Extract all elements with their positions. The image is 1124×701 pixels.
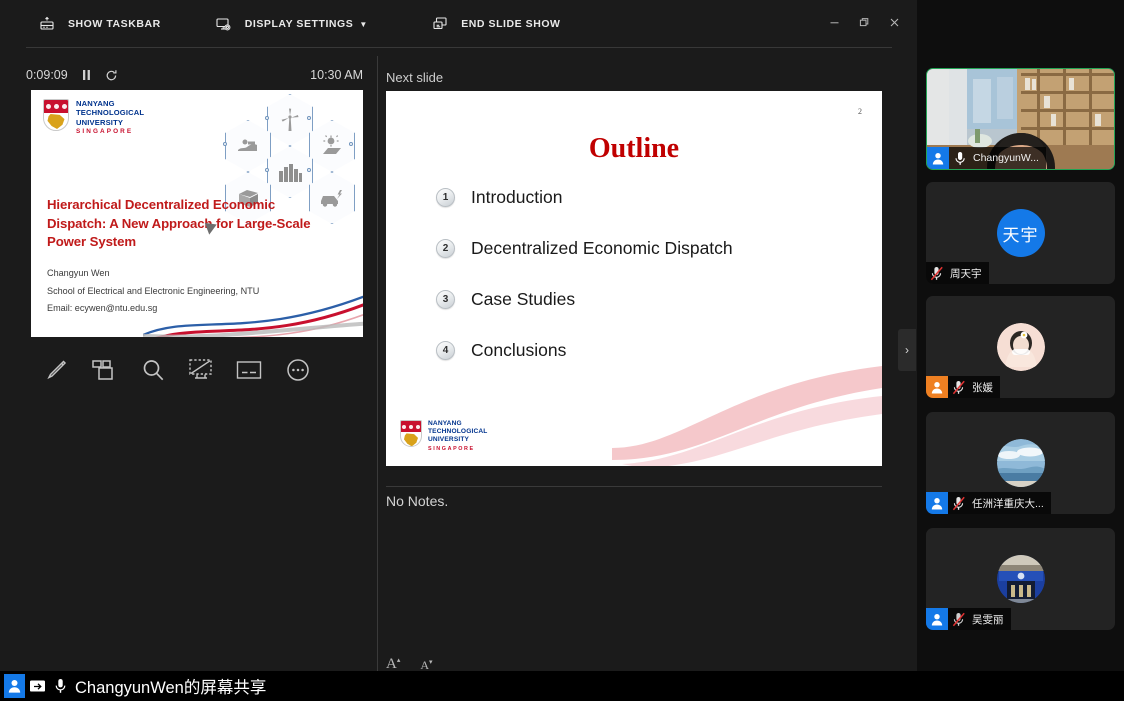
slide-page-number: 2 [858, 107, 862, 116]
current-slide-thumbnail[interactable]: NANYANG TECHNOLOGICAL UNIVERSITY SINGAPO… [31, 90, 363, 337]
display-settings-label: DISPLAY SETTINGS [245, 18, 354, 30]
powerpoint-presenter-window: SHOW TASKBAR DISPLAY SETTINGS ▼ [0, 0, 917, 695]
hex-factory-icon [267, 146, 313, 198]
ntu-line-1: NANYANG [428, 420, 487, 428]
slide-layout-icon[interactable] [80, 350, 128, 390]
outline-number: 2 [436, 239, 455, 258]
ntu-line-4: SINGAPORE [76, 128, 144, 135]
microphone-muted-icon [926, 262, 948, 284]
chevron-down-icon: ▼ [359, 20, 367, 29]
ntu-logo: NANYANG TECHNOLOGICAL UNIVERSITY SINGAPO… [43, 99, 144, 135]
microphone-icon [949, 147, 971, 169]
person-icon [926, 492, 948, 514]
avatar [997, 555, 1045, 603]
ntu-line-3: UNIVERSITY [428, 436, 487, 444]
close-button[interactable] [879, 9, 909, 35]
person-icon [926, 376, 948, 398]
participant-badge: 吴雯丽 [926, 608, 1011, 630]
display-settings-icon [215, 15, 233, 33]
participant-name: 张媛 [970, 380, 1000, 395]
timer-row: 0:09:09 10:30 AM [26, 68, 363, 82]
avatar [997, 323, 1045, 371]
person-icon [4, 674, 25, 698]
participant-badge: ChangyunW... [927, 147, 1046, 169]
participant-tile[interactable]: 任洲洋重庆大... [926, 412, 1115, 514]
screen-share-icon [26, 674, 48, 698]
show-taskbar-icon [38, 15, 56, 33]
participant-name: ChangyunW... [971, 152, 1046, 164]
participant-badge: 任洲洋重庆大... [926, 492, 1051, 514]
pause-timer-button[interactable] [82, 69, 91, 81]
microphone-icon [49, 674, 71, 698]
magnifier-icon[interactable] [129, 350, 177, 390]
list-item: 2 Decentralized Economic Dispatch [436, 238, 856, 259]
slide-title: Hierarchical Decentralized Economic Disp… [47, 196, 337, 252]
end-slide-show-icon [431, 15, 449, 33]
outline-text: Introduction [471, 187, 562, 208]
ntu-line-4: SINGAPORE [428, 446, 487, 452]
slide-swoosh-decoration [143, 279, 363, 337]
hex-hydro-icon [225, 120, 271, 172]
minimize-button[interactable] [819, 9, 849, 35]
next-slide-label: Next slide [386, 70, 443, 85]
black-screen-icon[interactable] [177, 350, 225, 390]
avatar: 天宇 [997, 209, 1045, 257]
ntu-line-1: NANYANG [76, 99, 144, 108]
screen-share-presenter-view: SHOW TASKBAR DISPLAY SETTINGS ▼ [0, 0, 1124, 701]
microphone-muted-icon [948, 492, 970, 514]
next-slide-pane: Next slide 2 Outline 1 Introduction 2 De… [386, 48, 886, 695]
next-slide-preview[interactable]: 2 Outline 1 Introduction 2 Decentralized… [386, 91, 882, 466]
outline-number: 1 [436, 188, 455, 207]
outline-text: Case Studies [471, 289, 575, 310]
end-slide-show-label: END SLIDE SHOW [461, 18, 560, 30]
restore-button[interactable] [849, 9, 879, 35]
participant-tile[interactable]: ChangyunW... [926, 68, 1115, 170]
microphone-muted-icon [948, 376, 970, 398]
avatar [997, 439, 1045, 487]
pane-divider [377, 56, 378, 686]
captions-icon[interactable] [225, 350, 273, 390]
speaker-notes[interactable]: No Notes. [386, 493, 448, 509]
display-settings-button[interactable]: DISPLAY SETTINGS ▼ [203, 0, 380, 48]
ntu-shield-icon [43, 99, 69, 131]
participant-name: 吴雯丽 [970, 612, 1011, 627]
presenter-toolbar: SHOW TASKBAR DISPLAY SETTINGS ▼ [0, 0, 917, 48]
show-taskbar-button[interactable]: SHOW TASKBAR [26, 0, 173, 48]
participant-tile[interactable]: 张媛 [926, 296, 1115, 398]
avatar-initials: 天宇 [1003, 221, 1039, 246]
taskbar-label: ChangyunWen的屏幕共享 [75, 674, 266, 698]
reset-timer-button[interactable] [105, 69, 118, 82]
window-controls [819, 8, 909, 36]
microphone-muted-icon [948, 608, 970, 630]
ntu-line-3: UNIVERSITY [76, 118, 144, 127]
person-icon [927, 147, 949, 169]
notes-divider [386, 486, 882, 487]
ntu-shield-icon [400, 420, 422, 447]
outline-text: Conclusions [471, 340, 566, 361]
list-item: 1 Introduction [436, 187, 856, 208]
pen-icon[interactable] [32, 350, 80, 390]
hex-solar-icon [309, 120, 355, 172]
end-slide-show-button[interactable]: END SLIDE SHOW [419, 0, 572, 48]
ntu-line-2: TECHNOLOGICAL [428, 428, 487, 436]
participant-tile[interactable]: 天宇 周天宇 [926, 182, 1115, 284]
elapsed-timer: 0:09:09 [26, 68, 68, 82]
person-icon [926, 608, 948, 630]
annotation-toolbar [32, 348, 322, 392]
show-taskbar-label: SHOW TASKBAR [68, 18, 161, 30]
list-item: 3 Case Studies [436, 289, 856, 310]
chevron-right-icon: › [905, 343, 909, 357]
participant-badge: 张媛 [926, 376, 1000, 398]
participant-name: 任洲洋重庆大... [970, 496, 1051, 511]
outline-heading: Outline [386, 133, 882, 165]
current-time: 10:30 AM [310, 68, 363, 82]
ntu-logo-footer: NANYANG TECHNOLOGICAL UNIVERSITY SINGAPO… [400, 420, 487, 452]
ntu-line-2: TECHNOLOGICAL [76, 108, 144, 117]
collapse-participants-panel-button[interactable]: › [898, 329, 916, 371]
more-options-icon[interactable] [274, 350, 322, 390]
participant-name: 周天宇 [948, 266, 989, 281]
outline-number: 3 [436, 290, 455, 309]
taskbar-item-screen-share[interactable]: ChangyunWen的屏幕共享 [4, 673, 266, 699]
slide-footer-swoosh [612, 356, 882, 466]
outline-text: Decentralized Economic Dispatch [471, 238, 733, 259]
participant-badge: 周天宇 [926, 262, 989, 284]
outline-number: 4 [436, 341, 455, 360]
windows-taskbar: ChangyunWen的屏幕共享 [0, 671, 1124, 701]
participants-panel: ChangyunW... 天宇 周天宇 [917, 0, 1124, 695]
participant-tile[interactable]: 吴雯丽 [926, 528, 1115, 630]
current-slide-pane: 0:09:09 10:30 AM [0, 48, 377, 695]
hex-wind-icon [267, 94, 313, 146]
